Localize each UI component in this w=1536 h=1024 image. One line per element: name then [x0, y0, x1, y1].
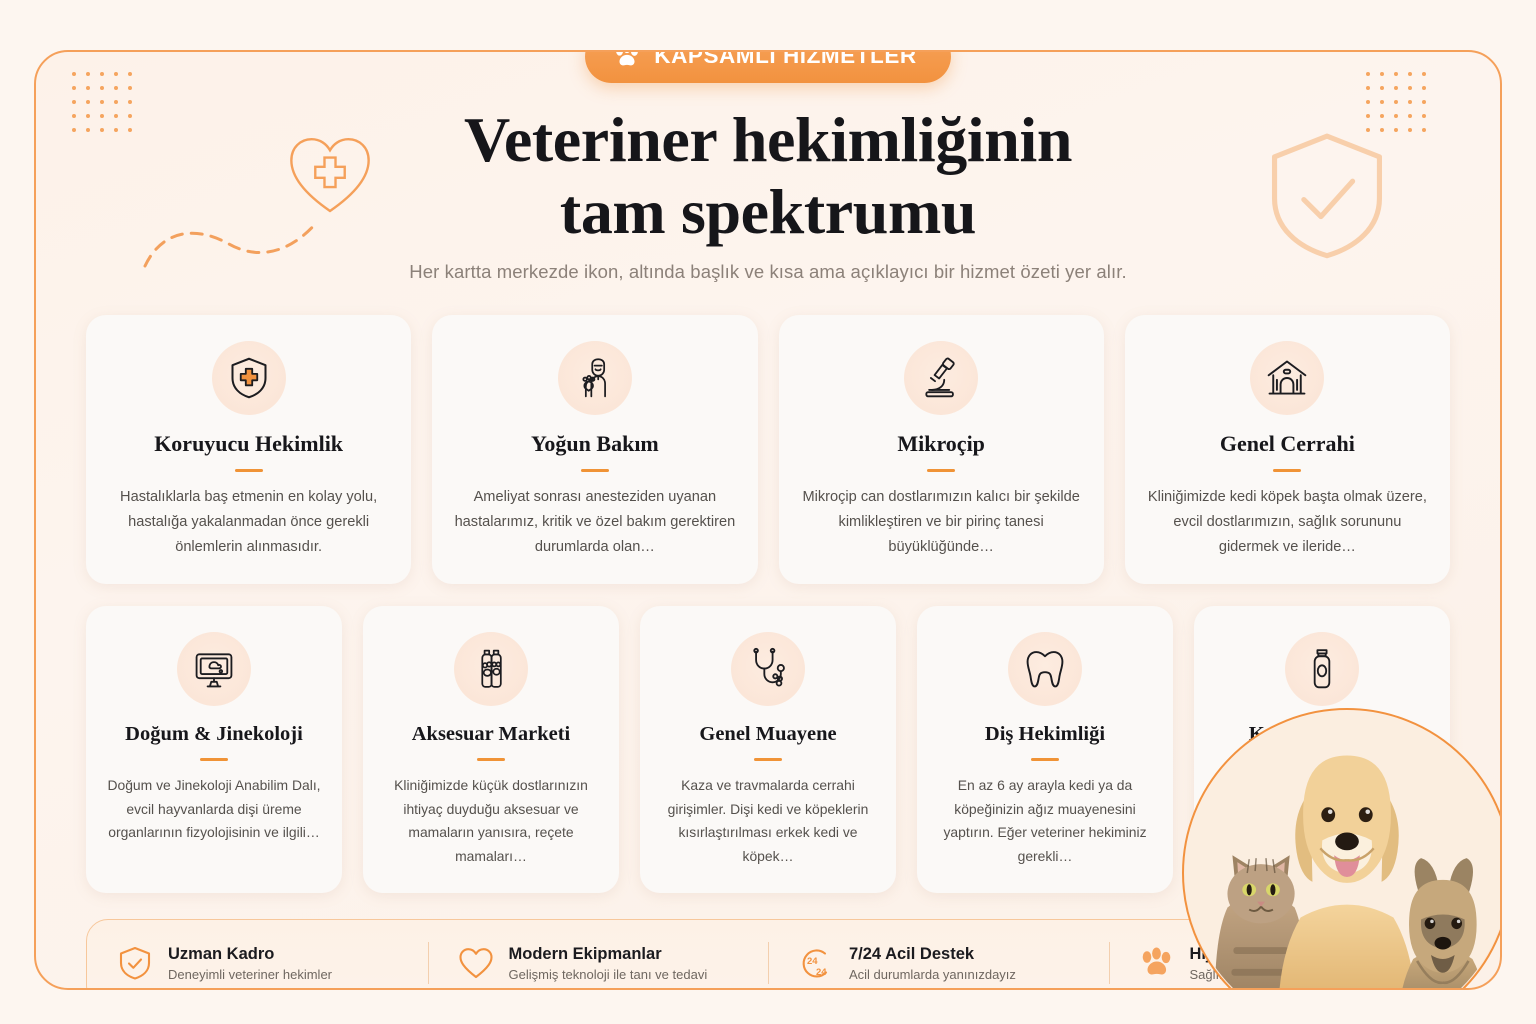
infographic-frame: KAPSAMLI HİZMETLER Veteriner hekimliğini… [34, 50, 1502, 990]
paw-icon [613, 50, 641, 69]
service-title: Aksesuar Marketi [412, 722, 571, 747]
title-divider [927, 469, 955, 472]
title-line-2: tam spektrumu [560, 176, 976, 247]
vet-with-pet-icon [558, 341, 632, 415]
page-title: Veteriner hekimliğinin tam spektrumu [36, 104, 1500, 247]
service-title: Genel Muayene [699, 722, 836, 747]
feature-subtitle: Gelişmiş teknoloji ile tanı ve tedavi [509, 966, 708, 984]
service-description: En az 6 ay arayla kedi ya da köpeğinizin… [937, 774, 1153, 870]
stethoscope-icon [731, 632, 805, 706]
shampoo-bottle-icon [1285, 632, 1359, 706]
feature-title: Uzman Kadro [168, 945, 274, 963]
shield-cross-icon [212, 341, 286, 415]
title-divider [1273, 469, 1301, 472]
feature-item[interactable]: Uzman Kadro Deneyimli veteriner hekimler [87, 943, 428, 984]
feature-subtitle: Acil durumlarda yanınızdayız [849, 966, 1016, 984]
service-card[interactable]: Aksesuar Marketi Kliniğimizde küçük dost… [363, 606, 619, 893]
heart-icon [458, 945, 494, 981]
service-card[interactable]: Genel Cerrahi Kliniğimizde kedi köpek ba… [1125, 315, 1450, 584]
title-divider [235, 469, 263, 472]
service-title: Mikroçip [897, 431, 985, 457]
service-description: Hastalıklarla baş etmenin en kolay yolu,… [106, 485, 391, 560]
pet-house-icon [1250, 341, 1324, 415]
service-title: Doğum & Jinekoloji [125, 722, 303, 747]
service-description: Ameliyat sonrası anesteziden uyanan hast… [452, 485, 737, 560]
header: Veteriner hekimliğinin tam spektrumu Her… [36, 52, 1500, 283]
feature-title: Modern Ekipmanlar [509, 945, 662, 963]
service-card[interactable]: Doğum & Jinekoloji Doğum ve Jinekoloji A… [86, 606, 342, 893]
feature-subtitle: Deneyimli veteriner hekimler [168, 966, 332, 984]
clock-24-icon: 24 24 [798, 945, 834, 981]
title-divider [754, 758, 782, 761]
microscope-icon [904, 341, 978, 415]
page-subtitle: Her kartta merkezde ikon, altında başlık… [36, 261, 1500, 283]
services-grid-row-1: Koruyucu Hekimlik Hastalıklarla baş etme… [86, 315, 1450, 584]
service-card[interactable]: Yoğun Bakım Ameliyat sonrası anesteziden… [432, 315, 757, 584]
badge-container: KAPSAMLI HİZMETLER [36, 50, 1500, 83]
title-divider [200, 758, 228, 761]
badge-label: KAPSAMLI HİZMETLER [654, 50, 916, 69]
service-title: Genel Cerrahi [1220, 431, 1355, 457]
service-description: Mikroçip can dostlarımızın kalıcı bir şe… [799, 485, 1084, 560]
title-line-1: Veteriner hekimliğinin [464, 104, 1072, 175]
service-description: Doğum ve Jinekoloji Anabilim Dalı, evcil… [106, 774, 322, 846]
title-divider [477, 758, 505, 761]
service-card[interactable]: Diş Hekimliği En az 6 ay arayla kedi ya … [917, 606, 1173, 893]
title-divider [1031, 758, 1059, 761]
feature-item[interactable]: Modern Ekipmanlar Gelişmiş teknoloji ile… [428, 943, 769, 984]
service-title: Yoğun Bakım [531, 431, 659, 457]
service-description: Kaza ve travmalarda cerrahi girişimler. … [660, 774, 876, 870]
shield-check-icon [117, 945, 153, 981]
feature-item[interactable]: 24 24 7/24 Acil Destek Acil durumlarda y… [768, 943, 1109, 984]
service-card[interactable]: Mikroçip Mikroçip can dostlarımızın kalı… [779, 315, 1104, 584]
service-title: Koruyucu Hekimlik [154, 431, 343, 457]
kapsamli-hizmetler-badge[interactable]: KAPSAMLI HİZMETLER [585, 50, 950, 83]
svg-text:24: 24 [816, 967, 827, 978]
tooth-icon [1008, 632, 1082, 706]
svg-text:24: 24 [807, 956, 818, 967]
pet-food-bottles-icon [454, 632, 528, 706]
ultrasound-monitor-icon [177, 632, 251, 706]
service-card[interactable]: Genel Muayene Kaza ve travmalarda cerrah… [640, 606, 896, 893]
service-card[interactable]: Koruyucu Hekimlik Hastalıklarla baş etme… [86, 315, 411, 584]
title-divider [581, 469, 609, 472]
service-description: Kliniğimizde küçük dostlarınızın ihtiyaç… [383, 774, 599, 870]
service-description: Kliniğimizde kedi köpek başta olmak üzer… [1145, 485, 1430, 560]
service-title: Diş Hekimliği [985, 722, 1105, 747]
paw-icon [1139, 945, 1175, 981]
feature-title: 7/24 Acil Destek [849, 945, 974, 963]
